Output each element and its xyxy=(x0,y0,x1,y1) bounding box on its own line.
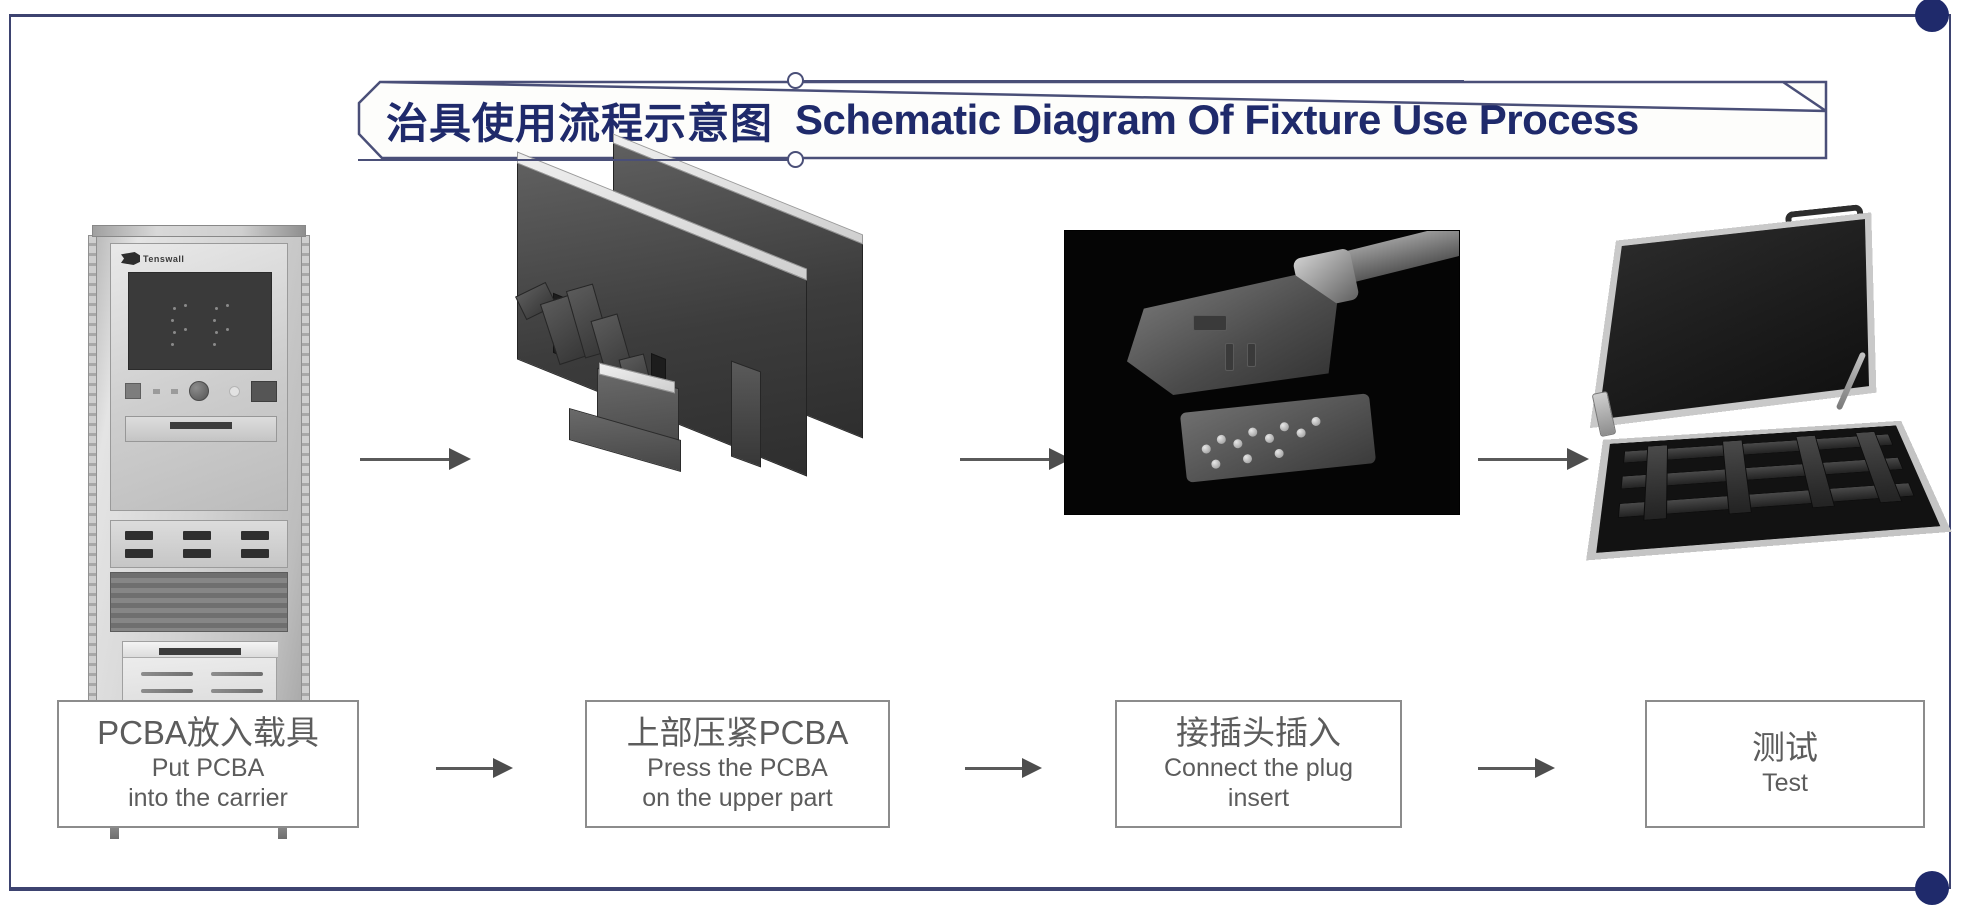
flow-arrow-bottom-1 xyxy=(436,758,513,778)
carrier-fixture-cad-image xyxy=(495,180,935,640)
rack-rotary-knob xyxy=(189,381,209,401)
step-2-label-en-line2: on the upper part xyxy=(642,783,832,814)
flow-arrow-top-1 xyxy=(360,448,471,470)
step-4-label-cn: 测试 xyxy=(1752,729,1818,768)
process-step-4[interactable]: 测试 Test xyxy=(1645,700,1925,828)
step-1-label-en-line2: into the carrier xyxy=(128,783,288,814)
step-2-label-en-line1: Press the PCBA xyxy=(647,753,828,784)
open-case-test-fixture-image xyxy=(1590,200,1950,620)
cabinet-top-edge xyxy=(123,642,278,658)
step-4-label-en-line1: Test xyxy=(1762,768,1808,799)
decor-dot-bottom-right xyxy=(1915,871,1949,905)
title-chinese: 治具使用流程示意图 xyxy=(386,90,773,151)
case-lid-inner-surface xyxy=(1598,219,1869,419)
brand-name-text: Tenswall xyxy=(143,254,184,264)
flow-arrow-bottom-3 xyxy=(1478,758,1555,778)
banner-node-marker-top xyxy=(787,72,804,89)
rack-module-block xyxy=(251,381,277,402)
top-rule xyxy=(9,14,1919,17)
rack-top-cap xyxy=(92,225,306,237)
rack-button-square xyxy=(125,383,141,399)
rack-control-strip xyxy=(125,380,277,404)
banner-node-marker-bottom xyxy=(787,151,804,168)
cad-side-bracket xyxy=(731,361,761,468)
step-1-label-en-line1: Put PCBA xyxy=(152,753,265,784)
rack-front-panel: Tenswall xyxy=(110,243,288,511)
step-3-label-cn: 接插头插入 xyxy=(1176,714,1341,753)
flow-arrow-top-2 xyxy=(960,448,1071,470)
banner-lead-line-bottom xyxy=(358,159,788,161)
case-base-inner-tray xyxy=(1596,425,1940,552)
rack-led-lamp xyxy=(229,386,240,397)
rack-brand-logo: Tenswall xyxy=(121,252,184,265)
brand-mark-icon xyxy=(121,252,140,265)
plug-socket-receptacle xyxy=(1180,393,1376,482)
rack-slot-bay xyxy=(110,520,288,568)
title-english: Schematic Diagram Of Fixture Use Process xyxy=(795,96,1639,144)
step-2-label-cn: 上部压紧PCBA xyxy=(627,714,849,753)
step-3-label-en-line1: Connect the plug xyxy=(1164,753,1353,784)
cabinet-handle-bar xyxy=(159,648,241,655)
flow-arrow-bottom-2 xyxy=(965,758,1042,778)
rack-display-screen xyxy=(128,272,272,370)
plug-rib-detail xyxy=(1225,343,1234,371)
slide-root: 治具使用流程示意图 Schematic Diagram Of Fixture U… xyxy=(0,0,1977,913)
rack-drawer-handle xyxy=(170,422,232,429)
case-base xyxy=(1586,421,1951,561)
rack-ventilation-grille xyxy=(110,572,288,632)
case-lid xyxy=(1590,212,1877,428)
title-text-group: 治具使用流程示意图 Schematic Diagram Of Fixture U… xyxy=(386,81,1639,159)
banner-lead-line-top xyxy=(804,80,1464,82)
illustration-row: Tenswall xyxy=(0,180,1977,680)
plug-rib-detail-2 xyxy=(1247,343,1256,367)
flow-arrow-top-3 xyxy=(1478,448,1589,470)
plug-housing xyxy=(1127,275,1337,395)
step-3-label-en-line2: insert xyxy=(1228,783,1289,814)
rack-indicator-1 xyxy=(153,389,160,394)
step-1-label-cn: PCBA放入载具 xyxy=(97,714,319,753)
rack-drawer xyxy=(125,416,277,442)
process-flow-row: PCBA放入载具 Put PCBA into the carrier 上部压紧P… xyxy=(0,700,1977,850)
title-banner: 治具使用流程示意图 Schematic Diagram Of Fixture U… xyxy=(358,81,1828,159)
process-step-2[interactable]: 上部压紧PCBA Press the PCBA on the upper par… xyxy=(585,700,890,828)
plug-latch-detail xyxy=(1193,315,1227,331)
rack-indicator-2 xyxy=(171,389,178,394)
bottom-rule xyxy=(9,888,1919,891)
process-step-3[interactable]: 接插头插入 Connect the plug insert xyxy=(1115,700,1402,828)
connector-plug-photo xyxy=(1064,230,1460,515)
process-step-1[interactable]: PCBA放入载具 Put PCBA into the carrier xyxy=(57,700,359,828)
